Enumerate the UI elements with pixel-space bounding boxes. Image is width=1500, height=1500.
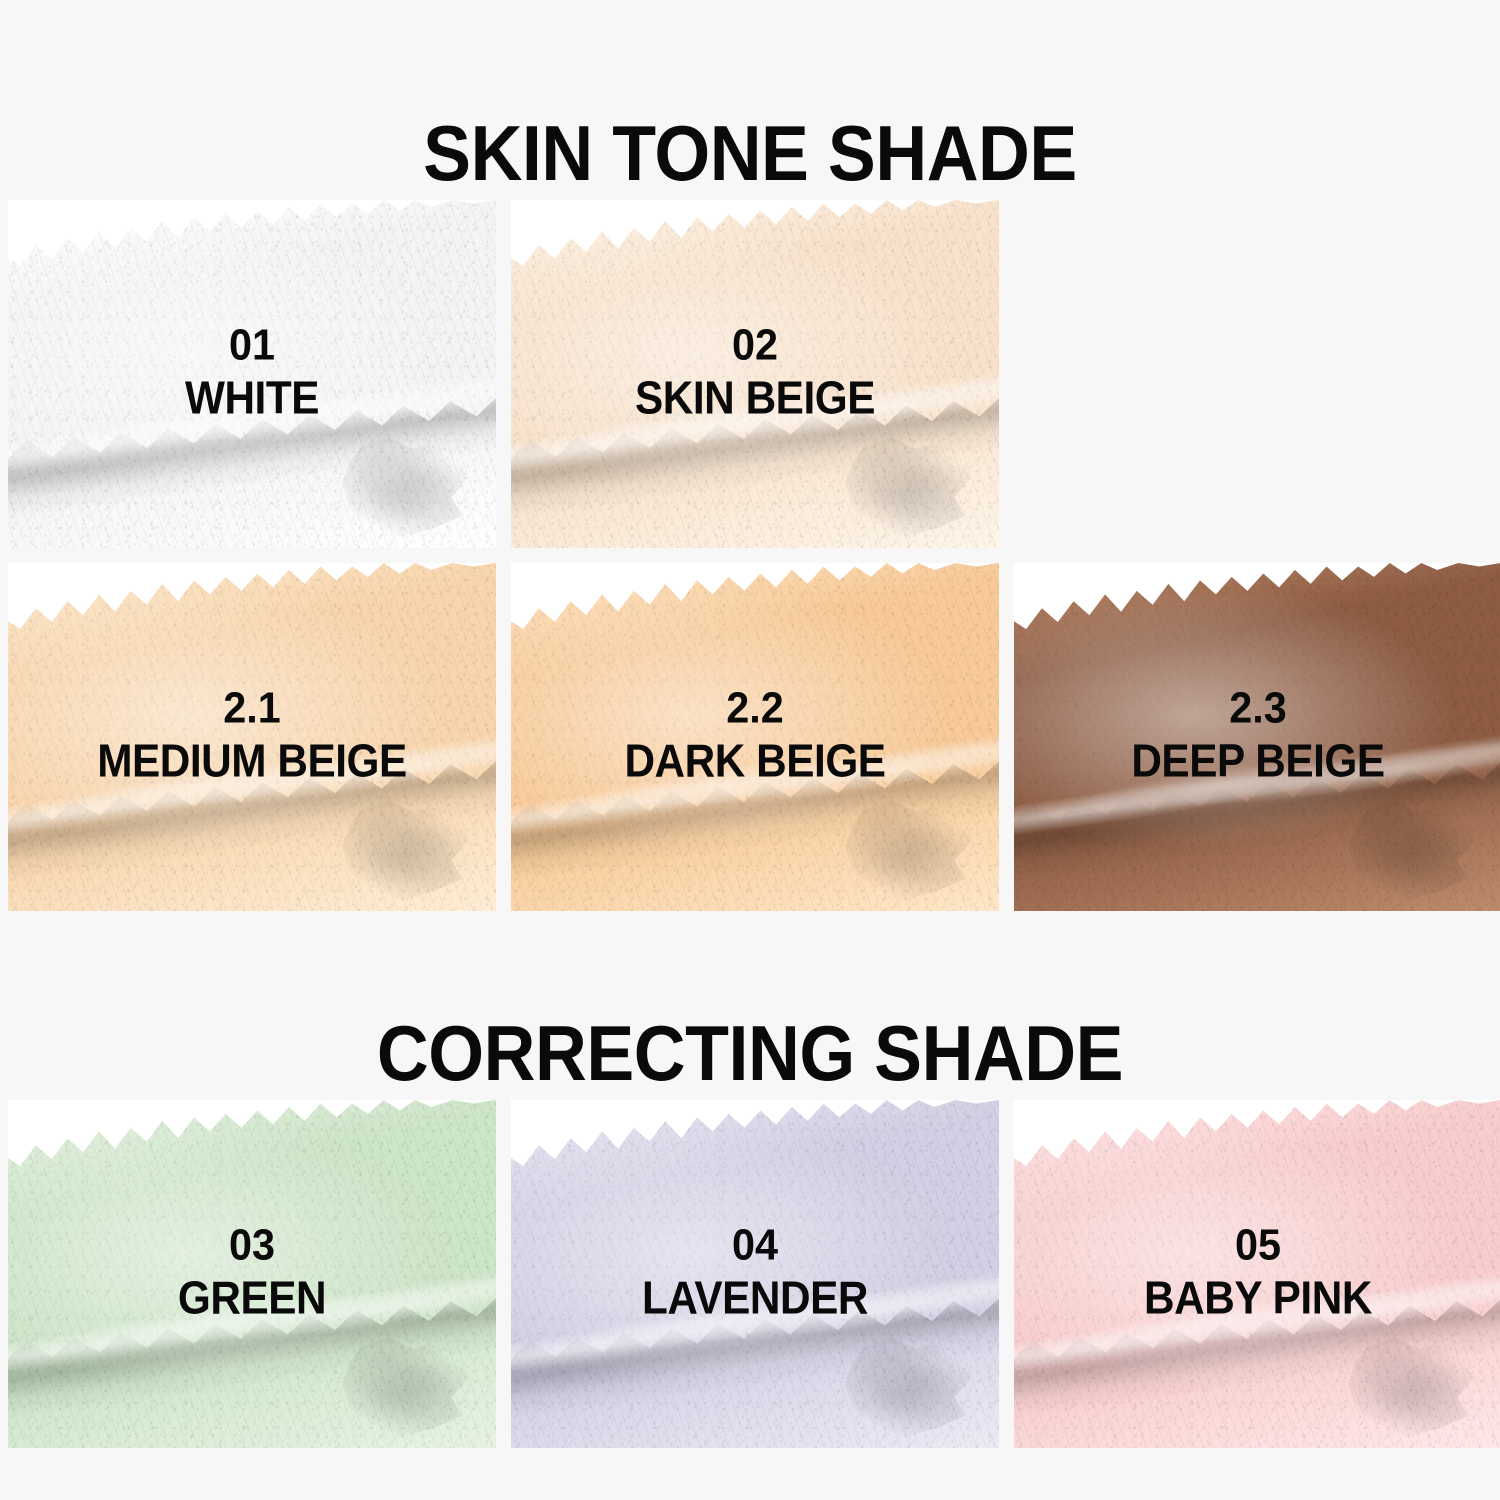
shade-swatch-baby-pink[interactable]: 05BABY PINK [1014, 1100, 1500, 1448]
section-heading-skin-tone: SKIN TONE SHADE [60, 114, 1440, 192]
powder-texture [8, 200, 496, 548]
powder-texture [8, 1100, 496, 1448]
powder-texture [511, 200, 999, 548]
section-heading-correcting: CORRECTING SHADE [60, 1014, 1440, 1092]
shade-swatch-medium-beige[interactable]: 2.1MEDIUM BEIGE [8, 563, 496, 911]
shade-swatch-green[interactable]: 03GREEN [8, 1100, 496, 1448]
powder-texture [511, 1100, 999, 1448]
powder-base [511, 200, 999, 548]
powder-texture [511, 563, 999, 911]
powder-texture [1014, 563, 1500, 911]
swatch-row-skin-tone-1: 01WHITE02SKIN BEIGE [8, 200, 999, 548]
shade-swatch-deep-beige[interactable]: 2.3DEEP BEIGE [1014, 563, 1500, 911]
swatch-row-skin-tone-2: 2.1MEDIUM BEIGE2.2DARK BEIGE2.3DEEP BEIG… [8, 563, 1500, 911]
powder-base [511, 1100, 999, 1448]
shade-swatch-dark-beige[interactable]: 2.2DARK BEIGE [511, 563, 999, 911]
shade-chart-page: SKIN TONE SHADE 01WHITE02SKIN BEIGE 2.1M… [0, 0, 1500, 1500]
powder-base [1014, 563, 1500, 911]
powder-base [1014, 1100, 1500, 1448]
powder-texture [8, 563, 496, 911]
powder-base [8, 563, 496, 911]
powder-texture [1014, 1100, 1500, 1448]
shade-swatch-skin-beige[interactable]: 02SKIN BEIGE [511, 200, 999, 548]
powder-base [511, 563, 999, 911]
shade-swatch-lavender[interactable]: 04LAVENDER [511, 1100, 999, 1448]
shade-swatch-white[interactable]: 01WHITE [8, 200, 496, 548]
powder-base [8, 1100, 496, 1448]
swatch-row-correcting-1: 03GREEN04LAVENDER05BABY PINK [8, 1100, 1500, 1448]
powder-base [8, 200, 496, 548]
